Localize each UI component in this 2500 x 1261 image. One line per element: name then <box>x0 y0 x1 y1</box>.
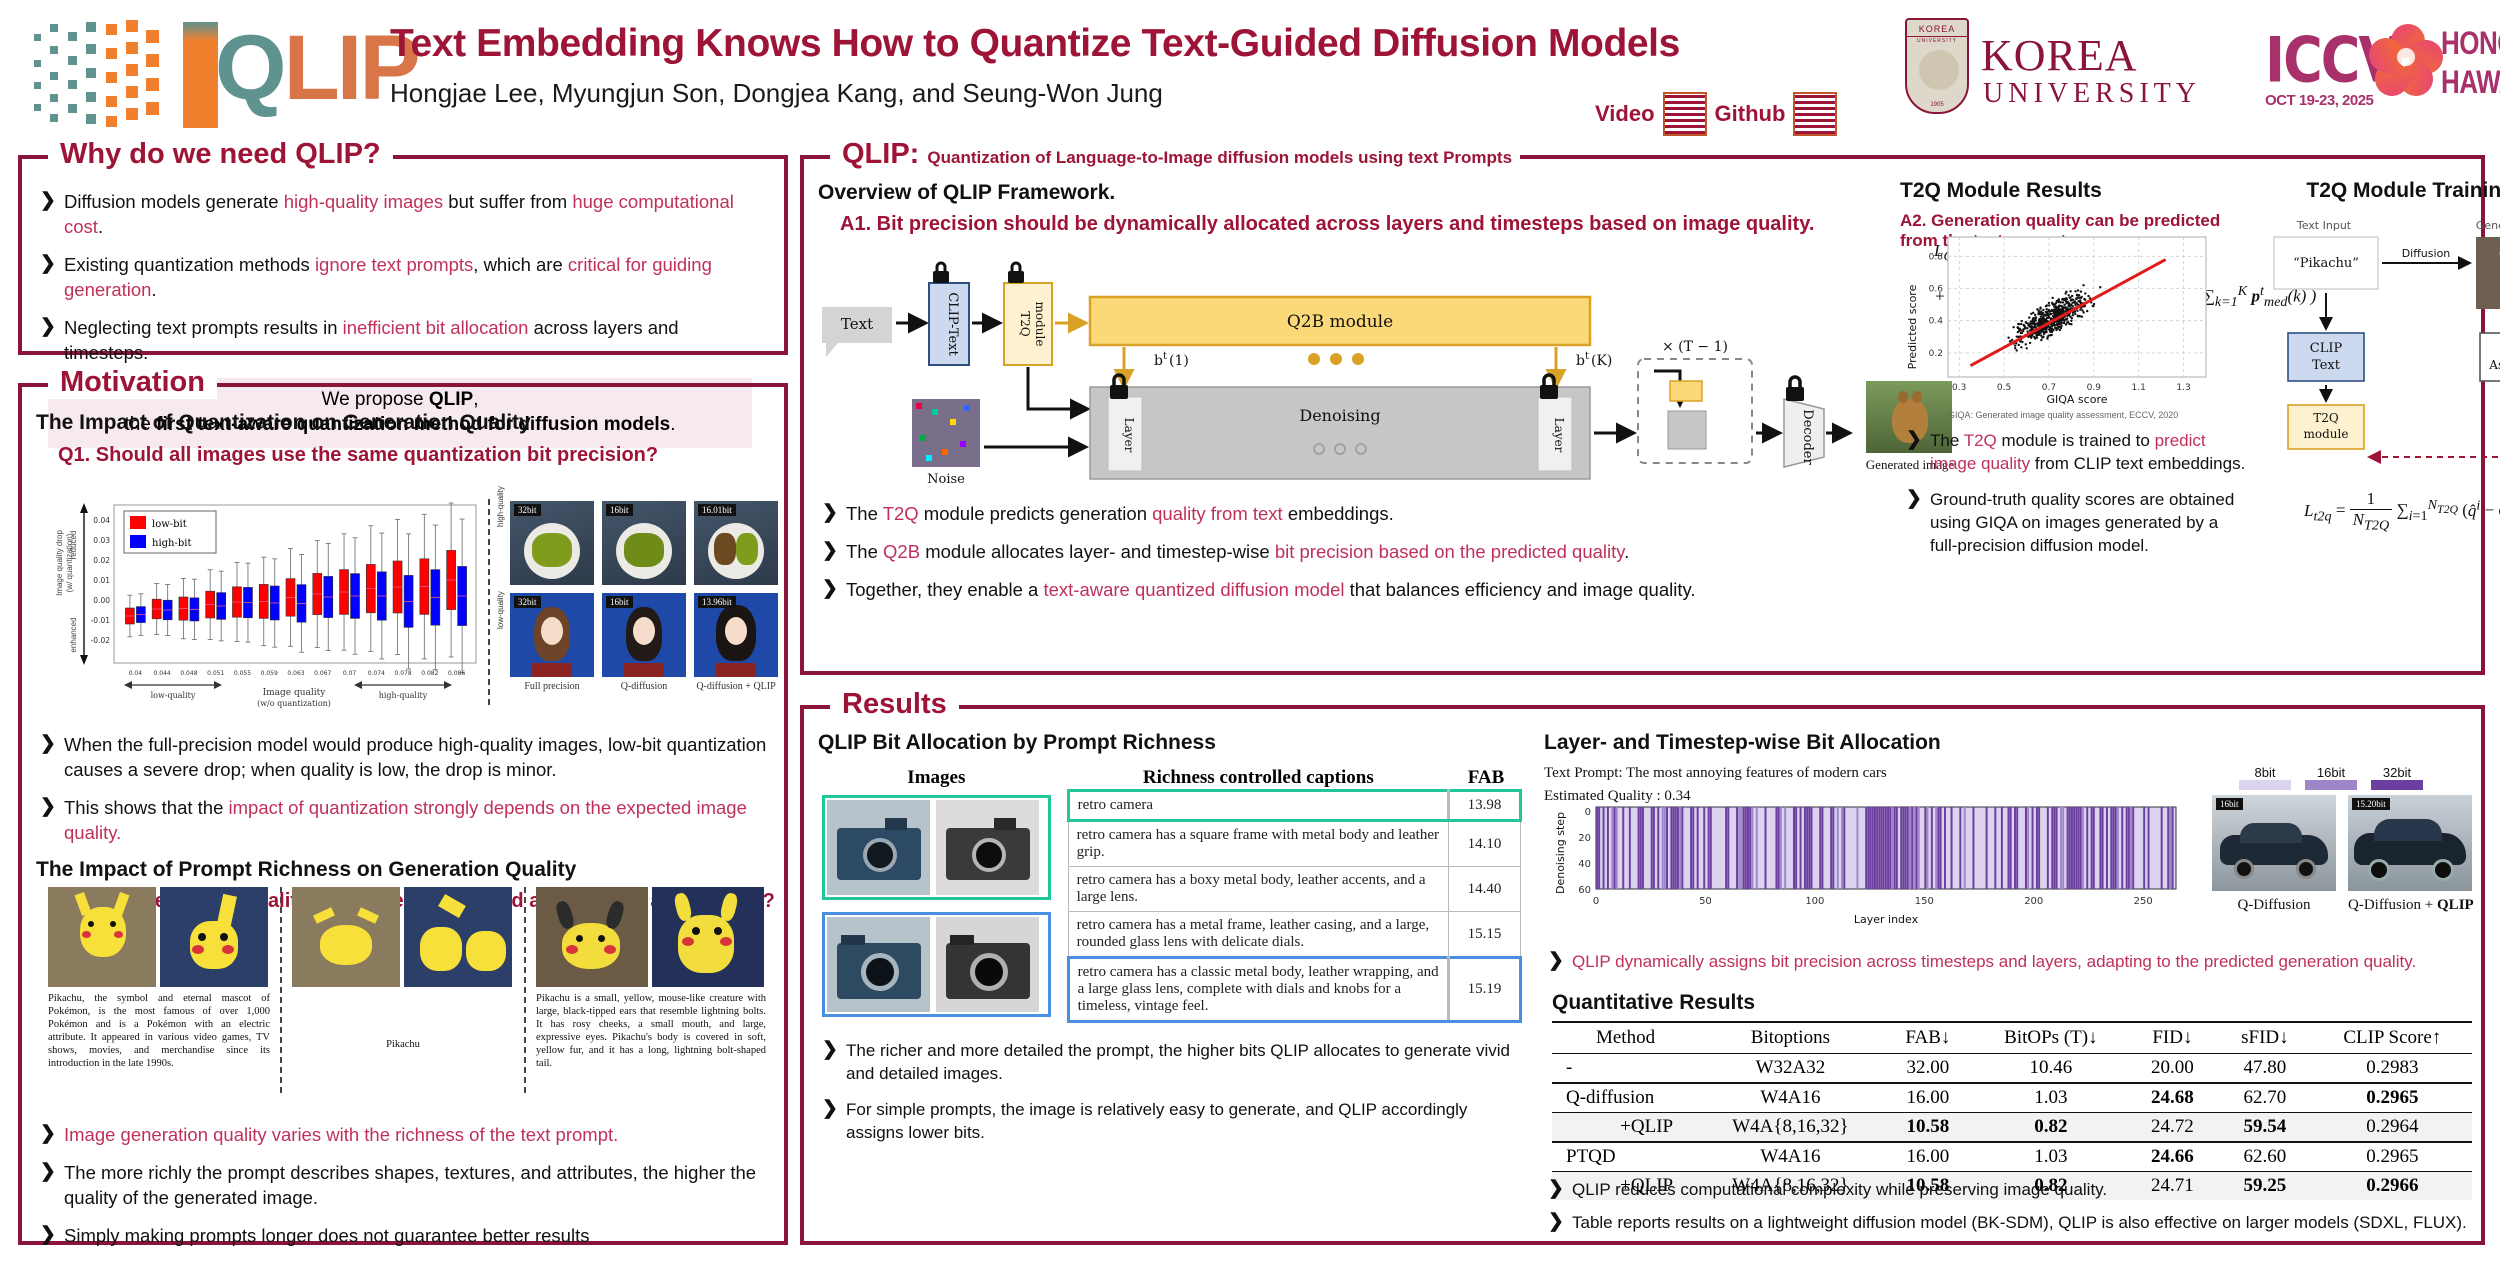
car-qlip: 15.20bit Q-Diffusion + QLIP <box>2348 795 2474 914</box>
motivation-bullet-5: Simply making prompts longer does not gu… <box>36 1223 784 1248</box>
why-b2-red1: ignore text prompts <box>315 254 473 275</box>
table-cell: 16.00 <box>1882 1083 1974 1113</box>
legend-32bit-label: 32bit <box>2371 765 2423 780</box>
t2q-bullet-1: The T2Q module is trained to predict ima… <box>1902 429 2250 475</box>
svg-text:250: 250 <box>2134 896 2153 907</box>
svg-text:(K): (K) <box>1591 353 1612 369</box>
svg-text:0.059: 0.059 <box>261 670 278 677</box>
boxplot-svg: reduced enhanced Image quality drop (w/ … <box>36 499 496 711</box>
camera-image-4 <box>936 917 1039 1012</box>
svg-text:0.07: 0.07 <box>343 670 357 677</box>
poster-header: QLIP Text Embedding Knows How to Quantiz… <box>0 0 2500 145</box>
honolulu-hawaii-wordmark: HONOLULU HAWAII <box>2441 24 2500 102</box>
table-row: retro camera has a square frame with met… <box>1068 821 1520 867</box>
svg-text:200: 200 <box>2024 896 2043 907</box>
iccv-date: OCT 19-23, 2025 <box>2265 92 2373 109</box>
svg-text:0.063: 0.063 <box>287 670 304 677</box>
table-cell: 24.66 <box>2128 1142 2217 1172</box>
qlip-framework-diagram: Text CLIP-Text T2Q module Q2B module b t… <box>814 259 1854 489</box>
tag-lq-1: 32bit <box>514 596 541 608</box>
t2q-loss-equation: Lt2q = 1NT2Q ∑i=1NT2Q (q̂i − ϕ(zi))2 <box>2304 489 2500 534</box>
table-cell: 0.2964 <box>2313 1113 2472 1143</box>
layer-head: Layer- and Timestep-wise Bit Allocation <box>1544 731 2474 755</box>
quant-head: Quantitative Results <box>1552 991 1755 1015</box>
image-hq-16bit: 16bit <box>602 501 686 585</box>
why-title: Why do we need QLIP? <box>48 138 393 171</box>
bit-legend: 8bit 16bit 32bit <box>2239 765 2423 790</box>
table-cell: +QLIP <box>1552 1113 1699 1143</box>
svg-text:0.01: 0.01 <box>93 576 110 585</box>
panel-why-qlip: Why do we need QLIP? Diffusion models ge… <box>18 155 788 355</box>
svg-text:0.6: 0.6 <box>1929 284 1944 294</box>
why-b2-mid: , which are <box>473 254 568 275</box>
motivation-sub-1: The Impact of Quantization on Generation… <box>36 411 768 435</box>
table-cell: 20.00 <box>2128 1054 2217 1084</box>
svg-text:(w/ quantization): (w/ quantization) <box>65 533 74 592</box>
car-qdiffusion: 16bit Q-Diffusion <box>2212 795 2336 914</box>
qlip-bullet-1: The T2Q module predicts generation quali… <box>818 501 1878 526</box>
motivation-sub-2: The Impact of Prompt Richness on Generat… <box>36 858 784 882</box>
fab-cell: 14.40 <box>1449 867 1521 912</box>
table-cell: 62.60 <box>2217 1142 2313 1172</box>
why-bullet-1: Diffusion models generate high-quality i… <box>36 189 764 239</box>
tag-hq-2: 16bit <box>606 504 633 516</box>
camera-image-1 <box>827 800 930 895</box>
car-tag-2: 15.20bit <box>2352 798 2390 810</box>
table-cell: - <box>1552 1054 1699 1084</box>
table-cell: 47.80 <box>2217 1054 2313 1084</box>
t2q-training-block: T2Q Module Training Process <box>2284 179 2500 203</box>
qb1-pre: The <box>846 503 883 524</box>
svg-text:0.04: 0.04 <box>129 670 143 677</box>
grid-col-labels: Full precision Q-diffusion Q-diffusion +… <box>510 681 786 692</box>
motivation-bullet-2: This shows that the impact of quantizati… <box>36 795 784 845</box>
captions-col-header: Richness controlled captions <box>1067 767 1450 789</box>
svg-text:CLIP: CLIP <box>2310 341 2343 356</box>
why-b1-mid: but suffer from <box>443 191 572 212</box>
rbl1: The richer and more detailed the prompt,… <box>846 1041 1510 1083</box>
fab-cell: 15.19 <box>1449 958 1521 1022</box>
svg-text:0.7: 0.7 <box>2042 383 2056 393</box>
github-qr-icon[interactable] <box>1793 92 1837 136</box>
car-caption-1: Q-Diffusion <box>2212 897 2336 914</box>
svg-text:Text: Text <box>2312 358 2341 373</box>
svg-text:60: 60 <box>1578 885 1591 896</box>
car-tag-1: 16bit <box>2216 798 2243 810</box>
grid-row-2: 32bit 16bit 13.96bit <box>510 593 778 677</box>
car-cap2-pre: Q-Diffusion + <box>2348 897 2437 913</box>
hibiscus-icon <box>2373 24 2443 99</box>
table-cell: 0.2983 <box>2313 1054 2472 1084</box>
svg-text:Layer: Layer <box>1122 418 1136 453</box>
svg-text:Layer: Layer <box>1552 418 1566 453</box>
pika-image-5 <box>536 887 648 987</box>
mot-b4: The more richly the prompt describes sha… <box>64 1162 756 1208</box>
svg-text:20: 20 <box>1578 833 1591 844</box>
why-b1-red1: high-quality images <box>284 191 443 212</box>
table-row: retro camera has a boxy metal body, leat… <box>1068 867 1520 912</box>
svg-text:low-quality: low-quality <box>151 691 196 700</box>
svg-text:Decoder: Decoder <box>1800 409 1815 465</box>
ku-name-line1: KOREA <box>1981 30 2138 81</box>
qlip-logo-bar <box>183 22 218 128</box>
camera-image-3 <box>827 917 930 1012</box>
svg-text:enhanced: enhanced <box>69 617 78 652</box>
table-header-row: MethodBitoptionsFAB↓BitOPs (T)↓FID↓sFID↓… <box>1552 1022 2472 1054</box>
tag-lq-3: 13.96bit <box>698 596 736 608</box>
svg-text:0.074: 0.074 <box>368 670 385 677</box>
svg-text:high-quality: high-quality <box>379 691 428 700</box>
svg-text:low-bit: low-bit <box>152 519 187 530</box>
svg-text:50: 50 <box>1699 896 1712 907</box>
table-cell: 24.68 <box>2128 1083 2217 1113</box>
camera-pair-green <box>822 795 1051 900</box>
svg-text:0.044: 0.044 <box>154 670 171 677</box>
table-cell: 10.58 <box>1882 1113 1974 1143</box>
column-header: FAB↓ <box>1882 1022 1974 1054</box>
tag-lq-2: 16bit <box>606 596 633 608</box>
ku-name-line2: UNIVERSITY <box>1983 78 2201 110</box>
camera-pair-blue <box>822 912 1051 1017</box>
giqa-footnote: GIQA: Generated image quality assessment… <box>1948 410 2232 420</box>
pika-image-4 <box>404 887 512 987</box>
figure-divider <box>488 499 490 705</box>
table-row: Q-diffusionW4A1616.001.0324.6862.700.296… <box>1552 1083 2472 1113</box>
svg-text:T2Q: T2Q <box>1018 311 1032 337</box>
page-title: Text Embedding Knows How to Quantize Tex… <box>390 22 1870 66</box>
svg-text:Generated Image: Generated Image <box>2476 219 2500 232</box>
fab-cell: 15.15 <box>1449 912 1521 958</box>
qlip-title-sub: Quantization of Language-to-Image diffus… <box>927 148 1512 167</box>
hawaii-text: HAWAII <box>2441 63 2500 102</box>
t2q-bullet-2: Ground-truth quality scores are obtained… <box>1902 488 2250 557</box>
quantitative-table-wrap: MethodBitoptionsFAB↓BitOPs (T)↓FID↓sFID↓… <box>1552 1021 2472 1200</box>
why-b2-post: . <box>151 279 156 300</box>
svg-text:0.082: 0.082 <box>421 670 438 677</box>
table-row: +QLIPW4A{8,16,32}10.580.8224.7259.540.29… <box>1552 1113 2472 1143</box>
svg-text:-0.02: -0.02 <box>91 636 111 645</box>
table-cell: Q-diffusion <box>1552 1083 1699 1113</box>
column-header: CLIP Score↑ <box>2313 1022 2472 1054</box>
qb1-red: quality from text <box>1152 503 1283 524</box>
pika-divider-2 <box>524 887 526 1093</box>
results-bullet-bottom-1: QLIP reduces computational complexity wh… <box>1544 1177 2474 1202</box>
svg-text:0.00: 0.00 <box>93 596 110 605</box>
fab-cell: 14.10 <box>1449 821 1521 867</box>
why-b2-pre: Existing quantization methods <box>64 254 315 275</box>
panel-qlip: QLIP: Quantization of Language-to-Image … <box>800 155 2485 675</box>
car-image-1: 16bit <box>2212 795 2336 891</box>
column-header: sFID↓ <box>2217 1022 2313 1054</box>
images-col-header: Images <box>822 767 1051 789</box>
image-lq-32bit: 32bit <box>510 593 594 677</box>
caption-cell: retro camera has a boxy metal body, leat… <box>1068 867 1448 912</box>
rbl2: For simple prompts, the image is relativ… <box>846 1100 1467 1142</box>
qb1-post: embeddings. <box>1283 503 1394 524</box>
t2qb1-post: from CLIP text embeddings. <box>2030 454 2245 473</box>
svg-text:module: module <box>2304 427 2349 441</box>
table-cell: 1.03 <box>1974 1142 2128 1172</box>
richness-table: retro camera13.98retro camera has a squa… <box>1067 789 1522 1023</box>
table-cell: 1.03 <box>1974 1083 2128 1113</box>
svg-text:Text Input: Text Input <box>2296 219 2352 232</box>
results-bullet-bottom-2: Table reports results on a lightweight d… <box>1544 1210 2474 1235</box>
caption-cell: retro camera has a classic metal body, l… <box>1068 958 1448 1022</box>
fab-cell: 13.98 <box>1449 791 1521 821</box>
prompt-richness-figure: Pikachu, the symbol and eternal mascot o… <box>48 887 778 1117</box>
bit-allocation-heatmap: Denoising step 0204060 050100150200250 L… <box>1552 801 2192 936</box>
svg-text:b: b <box>1576 353 1585 369</box>
svg-text:Noise: Noise <box>927 472 965 487</box>
qlip-logo-pixels <box>28 16 208 131</box>
pika-divider-1 <box>280 887 282 1093</box>
results-bullet-left-1: The richer and more detailed the prompt,… <box>818 1039 1518 1085</box>
svg-text:0.03: 0.03 <box>93 536 110 545</box>
tag-hq-3: 16.01bit <box>698 504 736 516</box>
table-row: retro camera has a metal frame, leather … <box>1068 912 1520 958</box>
car-image-2: 15.20bit <box>2348 795 2472 891</box>
svg-text:0.8: 0.8 <box>1929 252 1944 262</box>
qb2-red: bit precision based on the predicted qua… <box>1275 541 1624 562</box>
qb2-pre: The <box>846 541 883 562</box>
pika-image-6 <box>652 887 764 987</box>
grid-row-1: 32bit 16bit 16.01bit <box>510 501 778 585</box>
caption-long: Pikachu, the symbol and eternal mascot o… <box>48 992 270 1070</box>
t2q-train-title: T2Q Module Training Process <box>2284 179 2500 203</box>
mot-b1: When the full-precision model would prod… <box>64 734 766 780</box>
column-header: Method <box>1552 1022 1699 1054</box>
svg-text:0.078: 0.078 <box>394 670 411 677</box>
qlip-bullet-3: Together, they enable a text-aware quant… <box>818 577 1878 602</box>
car-comparison: 16bit Q-Diffusion 15.20bit Q-Diffusion +… <box>2212 795 2474 914</box>
mot-b3-red: Image generation quality varies with the… <box>64 1124 618 1145</box>
svg-text:Layer index: Layer index <box>1854 913 1919 926</box>
svg-text:150: 150 <box>1915 896 1934 907</box>
grid-row2-label: low-quality <box>496 591 505 629</box>
svg-text:Image quality drop: Image quality drop <box>55 530 64 596</box>
bit-alloc-head: QLIP Bit Allocation by Prompt Richness <box>818 731 1538 755</box>
panel-results: Results QLIP Bit Allocation by Prompt Ri… <box>800 705 2485 1245</box>
image-hq-32bit: 32bit <box>510 501 594 585</box>
table-cell: 16.00 <box>1882 1142 1974 1172</box>
t2qb2: Ground-truth quality scores are obtained… <box>1930 490 2234 555</box>
svg-text:Assessment: Assessment <box>2488 358 2500 372</box>
table-row: PTQDW4A1616.001.0324.6662.600.2965 <box>1552 1142 2472 1172</box>
svg-text:0.086: 0.086 <box>448 670 465 677</box>
richness-table-figure: Images <box>822 767 1522 1023</box>
svg-text:T2Q: T2Q <box>2313 411 2339 425</box>
image-lq-16bit: 16bit <box>602 593 686 677</box>
legend-32bit: 32bit <box>2371 765 2423 790</box>
quantization-boxplot-figure: reduced enhanced Image quality drop (w/ … <box>36 499 776 711</box>
qlip-title: QLIP: Quantization of Language-to-Image … <box>830 138 1520 171</box>
qb2-mid: module allocates layer- and timestep-wis… <box>920 541 1275 562</box>
svg-text:0.051: 0.051 <box>207 670 224 677</box>
svg-text:Q2B module: Q2B module <box>1287 312 1393 332</box>
legend-16bit-label: 16bit <box>2305 765 2357 780</box>
t2qb1-mid: module is trained to <box>1997 431 2155 450</box>
logo-letter-q: Q <box>215 17 284 119</box>
svg-text:0.5: 0.5 <box>1997 383 2011 393</box>
caption-short: Pikachu <box>292 1039 514 1050</box>
t2q-training-diagram: Text Input Generated Image “Pikachu” Dif… <box>2264 217 2500 472</box>
caption-cell: retro camera <box>1068 791 1448 821</box>
col-label-1: Full precision <box>510 681 594 692</box>
results-title: Results <box>830 688 959 721</box>
qlip-title-main: QLIP: <box>842 138 919 170</box>
grid-row1-label: high-quality <box>496 486 505 527</box>
why-b3-pre: Neglecting text prompts results in <box>64 317 343 338</box>
car-caption-2: Q-Diffusion + QLIP <box>2348 897 2474 914</box>
quantitative-table: MethodBitoptionsFAB↓BitOPs (T)↓FID↓sFID↓… <box>1552 1021 2472 1200</box>
pika-group-long: Pikachu, the symbol and eternal mascot o… <box>48 887 270 1070</box>
svg-text:0.048: 0.048 <box>180 670 197 677</box>
svg-text:“Pikachu”: “Pikachu” <box>2293 256 2359 271</box>
image-hq-qlip: 16.01bit <box>694 501 778 585</box>
table-cell: 10.46 <box>1974 1054 2128 1084</box>
svg-text:0.3: 0.3 <box>1952 383 1966 393</box>
image-lq-qlip: 13.96bit <box>694 593 778 677</box>
svg-text:× (T − 1): × (T − 1) <box>1662 339 1728 355</box>
svg-text:GIQA score: GIQA score <box>2046 393 2107 406</box>
table-cell: W32A32 <box>1699 1054 1882 1084</box>
panel-motivation: Motivation The Impact of Quantization on… <box>18 383 788 1245</box>
svg-text:Image quality: Image quality <box>263 688 327 698</box>
svg-text:0: 0 <box>1585 807 1591 818</box>
table-row: retro camera13.98 <box>1068 791 1520 821</box>
rbd: QLIP dynamically assigns bit precision a… <box>1572 952 2416 971</box>
svg-text:module: module <box>1033 302 1047 347</box>
iccv-logo: ICCV OCT 19-23, 2025 HONOLULU HAWAII <box>2265 14 2490 122</box>
why-b1-post: . <box>98 216 103 237</box>
t2q-results-title: T2Q Module Results <box>1900 179 2250 203</box>
svg-text:-0.01: -0.01 <box>91 616 111 625</box>
car-cap2-bold: QLIP <box>2437 897 2474 913</box>
qb2-em: Q2B <box>883 541 920 562</box>
svg-text:t: t <box>1163 351 1167 362</box>
ku-shield-year: 1905 <box>1907 102 1967 108</box>
svg-text:40: 40 <box>1578 859 1591 870</box>
video-label: Video <box>1595 101 1655 127</box>
why-bullet-3: Neglecting text prompts results in ineff… <box>36 315 764 365</box>
qb3-post: that balances efficiency and image quali… <box>1344 579 1695 600</box>
why-bullet-2: Existing quantization methods ignore tex… <box>36 252 764 302</box>
caption-cell: retro camera has a square frame with met… <box>1068 821 1448 867</box>
motivation-title: Motivation <box>48 366 217 399</box>
t2qb1-pre: The <box>1930 431 1964 450</box>
caption-cell: retro camera has a metal frame, leather … <box>1068 912 1448 958</box>
rbb2: Table reports results on a lightweight d… <box>1572 1213 2467 1232</box>
pika-image-3 <box>292 887 400 987</box>
korea-university-logo: KOREA UNIVERSITY 1905 KOREA UNIVERSITY <box>1905 18 2235 123</box>
results-bullet-left-2: For simple prompts, the image is relativ… <box>818 1098 1518 1144</box>
col-label-2: Q-diffusion <box>602 681 686 692</box>
svg-text:Denoising: Denoising <box>1299 406 1380 425</box>
column-header: BitOPs (T)↓ <box>1974 1022 2128 1054</box>
mot-b5: Simply making prompts longer does not gu… <box>64 1225 589 1246</box>
svg-text:(1): (1) <box>1169 353 1189 369</box>
why-b1-pre: Diffusion models generate <box>64 191 284 212</box>
qb2-post: . <box>1624 541 1629 562</box>
svg-text:0.04: 0.04 <box>93 516 110 525</box>
qb3-red: text-aware quantized diffusion model <box>1043 579 1344 600</box>
legend-8bit-label: 8bit <box>2239 765 2291 780</box>
qb3-pre: Together, they enable a <box>846 579 1043 600</box>
legend-16bit: 16bit <box>2305 765 2357 790</box>
svg-text:high-bit: high-bit <box>152 538 191 549</box>
t2qb1-em: T2Q <box>1964 431 1997 450</box>
pika-group-rich: Pikachu is a small, yellow, mouse-like c… <box>536 887 766 1070</box>
motivation-bullet-1: When the full-precision model would prod… <box>36 732 784 782</box>
honolulu-text: HONOLULU <box>2441 24 2500 63</box>
svg-text:1.3: 1.3 <box>2176 383 2190 393</box>
tag-hq-1: 32bit <box>514 504 541 516</box>
pika-group-short: Pikachu <box>292 887 514 1050</box>
col-label-3: Q-diffusion + QLIP <box>694 681 778 692</box>
pika-image-2 <box>160 887 268 987</box>
qb1-em: T2Q <box>883 503 919 524</box>
column-header: FID↓ <box>2128 1022 2217 1054</box>
svg-text:100: 100 <box>1805 896 1824 907</box>
fab-col-header: FAB <box>1450 767 1522 789</box>
table-cell: 0.2965 <box>2313 1142 2472 1172</box>
results-dynamic-bullet: QLIP dynamically assigns bit precision a… <box>1544 949 2474 974</box>
svg-text:Text: Text <box>841 315 873 333</box>
motivation-bullet-3: Image generation quality varies with the… <box>36 1122 784 1147</box>
svg-text:b: b <box>1154 353 1163 369</box>
svg-text:0: 0 <box>1593 896 1599 907</box>
svg-text:Denoising step: Denoising step <box>1554 812 1567 894</box>
motivation-bullet-4: The more richly the prompt describes sha… <box>36 1160 784 1210</box>
svg-text:(w/o quantization): (w/o quantization) <box>257 699 331 708</box>
svg-text:0.067: 0.067 <box>314 670 331 677</box>
video-qr-icon[interactable] <box>1663 92 1707 136</box>
qlip-logo-wordmark: QLIP <box>215 14 418 122</box>
svg-text:0.4: 0.4 <box>1929 317 1944 327</box>
tiger-icon <box>1919 50 1959 90</box>
table-row: -W32A3232.0010.4620.0047.800.2983 <box>1552 1054 2472 1084</box>
table-cell: PTQD <box>1552 1142 1699 1172</box>
svg-text:0.055: 0.055 <box>234 670 251 677</box>
pika-image-1 <box>48 887 156 987</box>
svg-text:0.02: 0.02 <box>93 556 110 565</box>
table-cell: 24.72 <box>2128 1113 2217 1143</box>
svg-text:t: t <box>1585 351 1589 362</box>
t2q-scatter-figure: Predicted score 0.30.50.70.91.11.3 0.20.… <box>1902 231 2232 420</box>
svg-text:CLIP-Text: CLIP-Text <box>945 292 960 356</box>
table-cell: 0.2965 <box>2313 1083 2472 1113</box>
svg-text:0.9: 0.9 <box>2087 383 2102 393</box>
column-header: Bitoptions <box>1699 1022 1882 1054</box>
table-cell: W4A16 <box>1699 1142 1882 1172</box>
table-cell: W4A{8,16,32} <box>1699 1113 1882 1143</box>
rbb1: QLIP reduces computational complexity wh… <box>1572 1180 2107 1199</box>
why-b3-red1: inefficient bit allocation <box>343 317 529 338</box>
table-cell: 0.82 <box>1974 1113 2128 1143</box>
github-label: Github <box>1715 101 1786 127</box>
table-cell: 59.54 <box>2217 1113 2313 1143</box>
qr-links: Video Github <box>1595 92 1837 136</box>
ku-shield-top: KOREA <box>1907 24 1967 37</box>
svg-text:0.2: 0.2 <box>1929 349 1943 359</box>
svg-text:1.1: 1.1 <box>2132 383 2146 393</box>
table-row: retro camera has a classic metal body, l… <box>1068 958 1520 1022</box>
caption-rich: Pikachu is a small, yellow, mouse-like c… <box>536 992 766 1070</box>
qlip-bullet-2: The Q2B module allocates layer- and time… <box>818 539 1878 564</box>
motivation-q1: Q1. Should all images use the same quant… <box>58 444 768 467</box>
legend-8bit: 8bit <box>2239 765 2291 790</box>
ku-shield-icon: KOREA UNIVERSITY 1905 <box>1905 18 1969 114</box>
